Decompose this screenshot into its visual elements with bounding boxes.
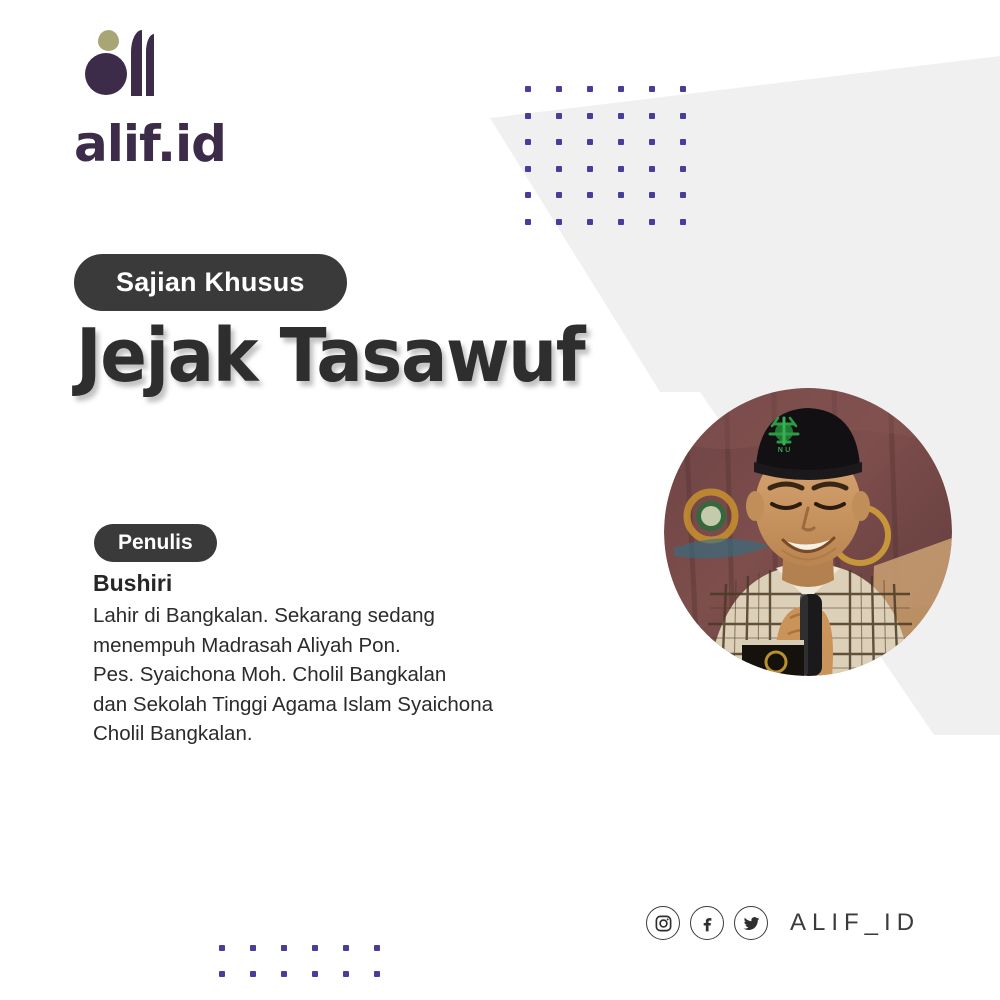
author-portrait: N U: [664, 388, 952, 676]
logo-seed-shape: [98, 30, 119, 51]
dot: [525, 192, 531, 198]
dot: [556, 166, 562, 172]
dot: [250, 971, 256, 977]
dot: [618, 192, 624, 198]
dot: [587, 139, 593, 145]
dot: [649, 166, 655, 172]
dot: [649, 219, 655, 225]
dot: [525, 113, 531, 119]
dot: [587, 192, 593, 198]
dot: [680, 219, 686, 225]
dot: [649, 113, 655, 119]
dot: [618, 219, 624, 225]
dot: [649, 86, 655, 92]
facebook-icon[interactable]: [690, 906, 724, 940]
dot: [374, 945, 380, 951]
dot: [618, 139, 624, 145]
svg-text:N U: N U: [778, 446, 791, 454]
category-badge[interactable]: Sajian Khusus: [74, 254, 347, 311]
logo-alif-stroke-outer: [131, 30, 142, 96]
dot: [525, 219, 531, 225]
poster-canvas: alif.id Sajian Khusus Jejak Tasawuf Penu…: [0, 0, 1000, 1000]
dot: [587, 166, 593, 172]
dot: [281, 971, 287, 977]
dot: [312, 971, 318, 977]
dot: [343, 971, 349, 977]
dot: [618, 86, 624, 92]
dot: [219, 945, 225, 951]
twitter-icon[interactable]: [734, 906, 768, 940]
dot: [680, 166, 686, 172]
dot: [680, 113, 686, 119]
dot: [680, 192, 686, 198]
dot: [587, 86, 593, 92]
dot: [556, 192, 562, 198]
logo-alif-stroke-inner: [146, 34, 154, 96]
dot: [343, 945, 349, 951]
author-badge: Penulis: [94, 524, 217, 562]
dot: [587, 113, 593, 119]
dot: [556, 113, 562, 119]
footer-handle[interactable]: ALIF_ID: [790, 909, 920, 937]
dot: [618, 113, 624, 119]
dot: [556, 86, 562, 92]
instagram-icon[interactable]: [646, 906, 680, 940]
dot: [649, 139, 655, 145]
footer-bar: ALIF_ID: [646, 906, 920, 940]
brand-wordmark: alif.id: [74, 119, 334, 169]
dot-grid-bottom-left: [219, 945, 405, 997]
alif-logo-mark-icon: [74, 28, 170, 106]
dot: [312, 945, 318, 951]
page-title: Jejak Tasawuf: [76, 318, 584, 396]
dot: [525, 166, 531, 172]
dot: [587, 219, 593, 225]
dot: [374, 971, 380, 977]
logo-circle-shape: [85, 53, 127, 95]
dot: [680, 86, 686, 92]
dot: [556, 219, 562, 225]
dot: [556, 139, 562, 145]
dot: [281, 945, 287, 951]
dot-grid-top-right: [525, 86, 711, 245]
dot: [525, 139, 531, 145]
dot: [525, 86, 531, 92]
dot: [219, 971, 225, 977]
author-name: Bushiri: [93, 570, 172, 597]
dot: [250, 945, 256, 951]
dot: [618, 166, 624, 172]
dot: [680, 139, 686, 145]
brand-logo[interactable]: alif.id: [74, 28, 334, 169]
author-bio: Lahir di Bangkalan. Sekarang sedang mene…: [93, 601, 563, 749]
dot: [649, 192, 655, 198]
